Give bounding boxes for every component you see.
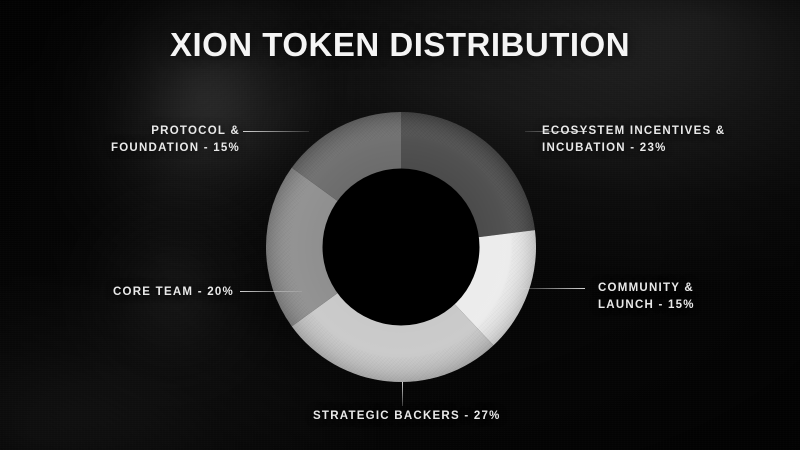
donut-chart-svg <box>266 112 536 382</box>
slice-label-line-1: CORE TEAM - 20% <box>113 284 234 301</box>
slice-label-line-2: FOUNDATION - 15% <box>111 140 240 157</box>
donut-chart <box>266 112 536 382</box>
leader-line-community <box>517 288 585 289</box>
slice-label-line-2: INCUBATION - 23% <box>542 140 725 157</box>
slice-label-ecosystem-incentives[interactable]: ECOSYSTEM INCENTIVES & INCUBATION - 23% <box>542 123 725 157</box>
slice-label-core-team[interactable]: CORE TEAM - 20% <box>113 284 234 301</box>
slice-label-line-1: COMMUNITY & <box>598 280 695 297</box>
slice-label-protocol-foundation[interactable]: PROTOCOL & FOUNDATION - 15% <box>111 123 240 157</box>
leader-line-core-team <box>240 291 302 292</box>
slice-label-community-launch[interactable]: COMMUNITY & LAUNCH - 15% <box>598 280 695 314</box>
slice-label-strategic-backers[interactable]: STRATEGIC BACKERS - 27% <box>313 408 501 425</box>
slide-canvas: XION TOKEN DISTRIBUTION ECOSYSTEM INCENT… <box>0 0 800 450</box>
leader-line-strategic-backers <box>402 382 403 406</box>
slice-label-line-1: ECOSYSTEM INCENTIVES & <box>542 123 725 140</box>
page-title: XION TOKEN DISTRIBUTION <box>0 26 800 64</box>
slice-label-line-1: PROTOCOL & <box>111 123 240 140</box>
donut-hole <box>323 169 480 326</box>
slice-label-line-2: LAUNCH - 15% <box>598 297 695 314</box>
leader-line-protocol <box>243 131 309 132</box>
slice-label-line-1: STRATEGIC BACKERS - 27% <box>313 408 501 425</box>
